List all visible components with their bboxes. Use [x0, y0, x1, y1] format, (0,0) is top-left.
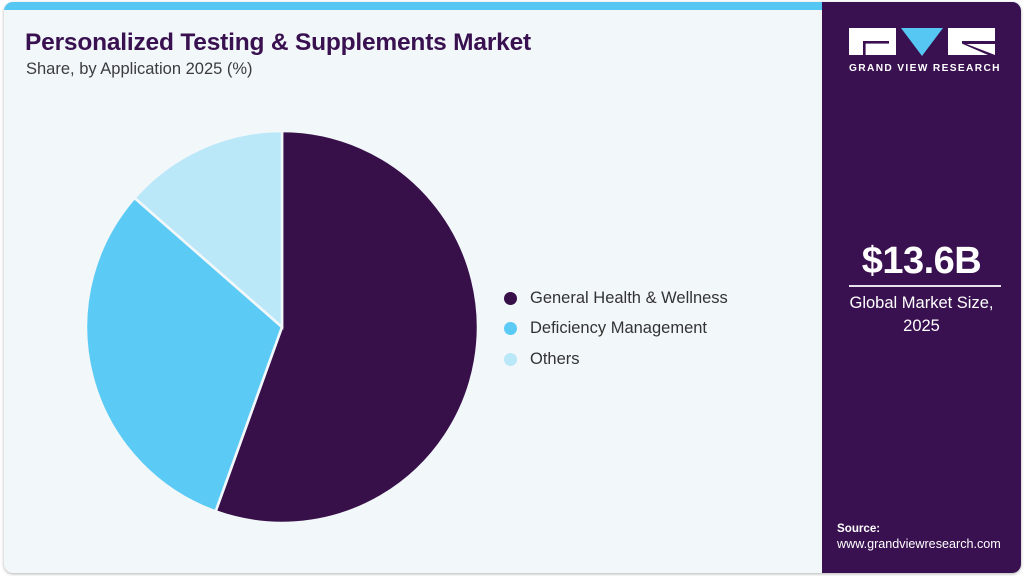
- chart-card: Personalized Testing & Supplements Marke…: [0, 0, 1025, 576]
- stat-divider: [849, 285, 1001, 287]
- grand-view-research-logo: GRAND VIEW RESEARCH: [849, 27, 995, 77]
- legend-swatch-icon: [504, 353, 517, 366]
- pie-chart-svg: [84, 129, 480, 525]
- legend-item-label: Deficiency Management: [530, 319, 707, 338]
- gvr-logo-mark: [849, 27, 995, 57]
- source-block: Source: www.grandviewresearch.com: [837, 522, 1021, 551]
- legend-item-label: General Health & Wellness: [530, 289, 728, 308]
- legend-item[interactable]: Others: [504, 344, 728, 375]
- gvr-logo-glyphs: [849, 27, 995, 57]
- chart-legend: General Health & WellnessDeficiency Mana…: [504, 283, 728, 375]
- brand-panel: GRAND VIEW RESEARCH $13.6B Global Market…: [822, 2, 1021, 573]
- legend-item[interactable]: General Health & Wellness: [504, 283, 728, 314]
- logo-g-stem: [863, 41, 866, 55]
- logo-wordmark: GRAND VIEW RESEARCH: [849, 63, 995, 74]
- logo-g-bar: [863, 41, 889, 44]
- legend-swatch-icon: [504, 322, 517, 335]
- market-size-value: $13.6B: [822, 240, 1021, 283]
- source-url[interactable]: www.grandviewresearch.com: [837, 537, 1021, 551]
- pie-chart: [84, 129, 480, 525]
- legend-item-label: Others: [530, 350, 580, 369]
- page-subtitle: Share, by Application 2025 (%): [26, 60, 253, 79]
- page-title: Personalized Testing & Supplements Marke…: [25, 29, 531, 57]
- logo-v-triangle: [901, 28, 943, 56]
- card-frame: Personalized Testing & Supplements Marke…: [4, 2, 1021, 573]
- legend-item[interactable]: Deficiency Management: [504, 314, 728, 345]
- source-label: Source:: [837, 522, 1021, 535]
- legend-swatch-icon: [504, 292, 517, 305]
- market-size-caption: Global Market Size, 2025: [834, 292, 1009, 338]
